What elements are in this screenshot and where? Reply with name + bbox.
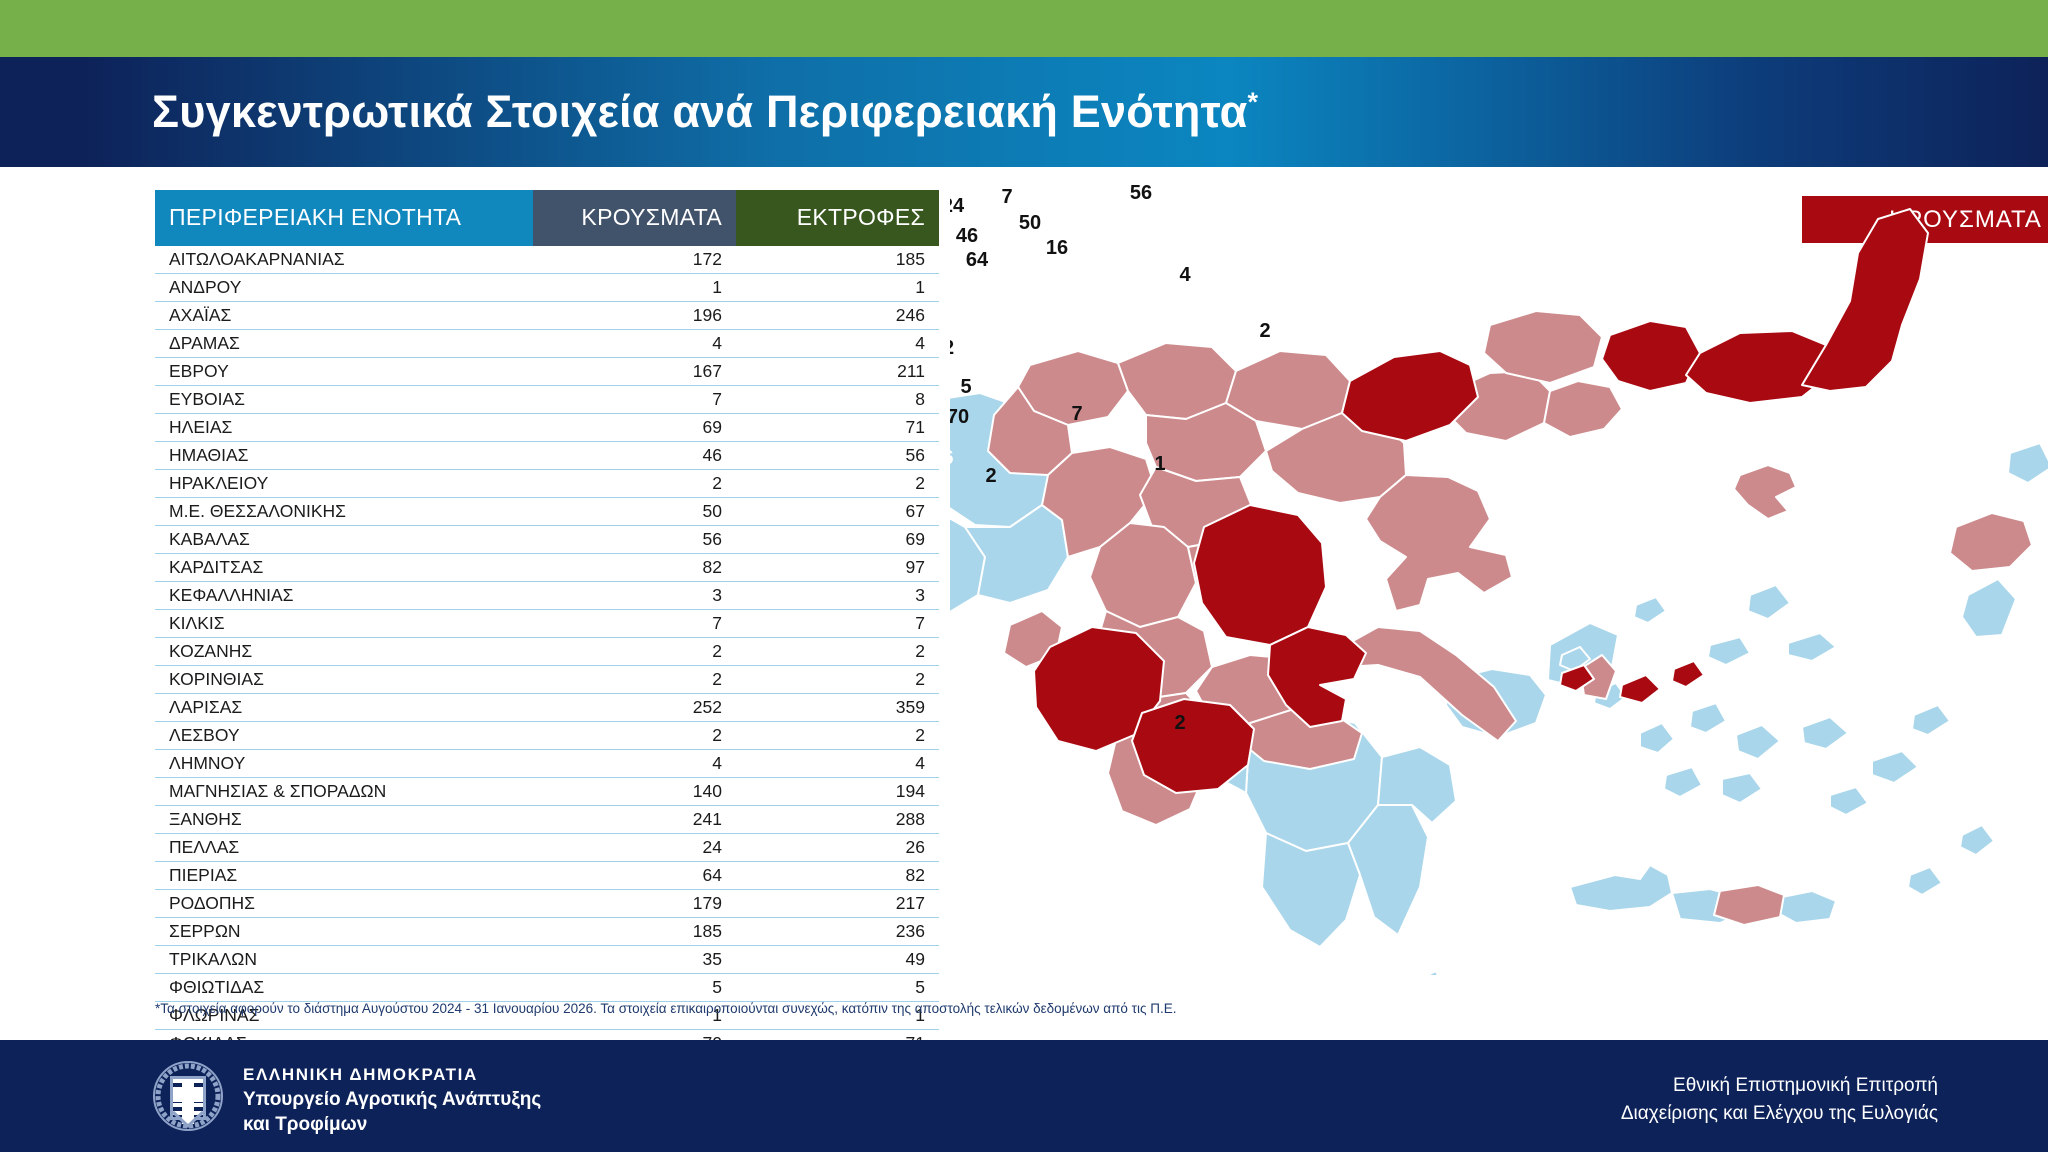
- map-region-value-label: 5: [960, 376, 971, 398]
- cell-farms: 67: [736, 498, 939, 526]
- table-row[interactable]: ΗΡΑΚΛΕΙΟΥ22: [155, 470, 939, 498]
- cell-cases: 185: [533, 918, 736, 946]
- cell-farms: 4: [736, 750, 939, 778]
- cell-cases: 69: [533, 414, 736, 442]
- table-row[interactable]: ΗΛΕΙΑΣ6971: [155, 414, 939, 442]
- map-region-value-label: 70: [950, 406, 969, 428]
- map-region-value-label: 167: [1349, 175, 1382, 197]
- cell-cases: 7: [533, 386, 736, 414]
- page-title-asterisk: *: [1248, 87, 1259, 117]
- map-region-value-label: 241: [1180, 175, 1213, 187]
- cell-farms: 2: [736, 666, 939, 694]
- cell-cases: 50: [533, 498, 736, 526]
- cell-region-name: ΠΕΛΛΑΣ: [155, 834, 533, 862]
- cell-cases: 56: [533, 526, 736, 554]
- cell-cases: 3: [533, 582, 736, 610]
- cell-region-name: ΚΙΛΚΙΣ: [155, 610, 533, 638]
- cell-region-name: ΜΑΓΝΗΣΙΑΣ & ΣΠΟΡΑΔΩΝ: [155, 778, 533, 806]
- cell-farms: 49: [736, 946, 939, 974]
- table-row[interactable]: ΛΑΡΙΣΑΣ252359: [155, 694, 939, 722]
- cell-farms: 3: [736, 582, 939, 610]
- map-region-value-label: 7: [1071, 403, 1082, 425]
- table-row[interactable]: ΛΗΜΝΟΥ44: [155, 750, 939, 778]
- cell-region-name: ΛΕΣΒΟΥ: [155, 722, 533, 750]
- cell-region-name: ΗΜΑΘΙΑΣ: [155, 442, 533, 470]
- footnote: *Τα στοιχεία αφορούν το διάστημα Αυγούστ…: [155, 1001, 1455, 1016]
- cell-farms: 185: [736, 246, 939, 274]
- cell-cases: 5: [533, 974, 736, 1002]
- map-region-value-label: 46: [956, 225, 978, 247]
- cell-farms: 2: [736, 722, 939, 750]
- cell-region-name: ΚΟΡΙΝΘΙΑΣ: [155, 666, 533, 694]
- map-region-value-label: 56: [1130, 182, 1152, 204]
- map-labels-overlay: 4241179167185567241504616264423525282140…: [950, 175, 2048, 975]
- cell-region-name: ΚΑΡΔΙΤΣΑΣ: [155, 554, 533, 582]
- map-region-value-label: 7: [1001, 186, 1012, 208]
- cell-cases: 167: [533, 358, 736, 386]
- table-row[interactable]: ΔΡΑΜΑΣ44: [155, 330, 939, 358]
- greece-choropleth-map: 4241179167185567241504616264423525282140…: [950, 175, 2048, 975]
- cell-cases: 4: [533, 330, 736, 358]
- table-row[interactable]: ΦΘΙΩΤΙΔΑΣ55: [155, 974, 939, 1002]
- cell-region-name: ΚΕΦΑΛΛΗΝΙΑΣ: [155, 582, 533, 610]
- cell-region-name: ΦΘΙΩΤΙΔΑΣ: [155, 974, 533, 1002]
- cell-region-name: Μ.Ε. ΘΕΣΣΑΛΟΝΙΚΗΣ: [155, 498, 533, 526]
- table-row[interactable]: ΕΥΒΟΙΑΣ78: [155, 386, 939, 414]
- map-region-value-label: 140: [983, 354, 1016, 376]
- cell-cases: 1: [533, 274, 736, 302]
- cell-region-name: ΤΡΙΚΑΛΩΝ: [155, 946, 533, 974]
- map-region-value-label: 2: [1174, 712, 1185, 734]
- cell-farms: 288: [736, 806, 939, 834]
- cell-farms: 246: [736, 302, 939, 330]
- cell-cases: 2: [533, 638, 736, 666]
- table-header: ΠΕΡΙΦΕΡΕΙΑΚΗ ΕΝΟΤΗΤΑ ΚΡΟΥΣΜΑΤΑ ΕΚΤΡΟΦΕΣ: [155, 190, 939, 246]
- page-footer: ΕΛΛΗΝΙΚΗ ΔΗΜΟΚΡΑΤΙΑ Υπουργείο Αγροτικής …: [0, 1040, 2048, 1152]
- map-region-value-label: 1: [1154, 453, 1165, 475]
- column-header-farms[interactable]: ΕΚΤΡΟΦΕΣ: [736, 190, 939, 246]
- table-row[interactable]: ΚΟΡΙΝΘΙΑΣ22: [155, 666, 939, 694]
- map-region-value-label: 24: [950, 195, 965, 217]
- cell-region-name: ΑΝΔΡΟΥ: [155, 274, 533, 302]
- map-region-value-label: 4: [1122, 175, 1134, 180]
- map-region-value-label: 185: [1043, 179, 1076, 201]
- cell-cases: 241: [533, 806, 736, 834]
- map-region-value-label: 196: [950, 447, 954, 469]
- committee-line-2: Διαχείρισης και Ελέγχου της Ευλογιάς: [1621, 1100, 1938, 1128]
- cell-cases: 82: [533, 554, 736, 582]
- cell-region-name: ΑΙΤΩΛΟΑΚΑΡΝΑΝΙΑΣ: [155, 246, 533, 274]
- table-row[interactable]: ΡΟΔΟΠΗΣ179217: [155, 890, 939, 918]
- column-header-region[interactable]: ΠΕΡΙΦΕΡΕΙΑΚΗ ΕΝΟΤΗΤΑ: [155, 190, 533, 246]
- cell-farms: 2: [736, 638, 939, 666]
- cell-cases: 46: [533, 442, 736, 470]
- cell-region-name: ΕΒΡΟΥ: [155, 358, 533, 386]
- cell-cases: 2: [533, 470, 736, 498]
- cell-cases: 140: [533, 778, 736, 806]
- cell-farms: 97: [736, 554, 939, 582]
- gov-line-1: ΕΛΛΗΝΙΚΗ ΔΗΜΟΚΡΑΤΙΑ: [243, 1064, 541, 1087]
- cell-region-name: ΛΗΜΝΟΥ: [155, 750, 533, 778]
- government-identity: ΕΛΛΗΝΙΚΗ ΔΗΜΟΚΡΑΤΙΑ Υπουργείο Αγροτικής …: [243, 1064, 541, 1137]
- cell-farms: 217: [736, 890, 939, 918]
- table-body: ΑΙΤΩΛΟΑΚΑΡΝΑΝΙΑΣ172185ΑΝΔΡΟΥ11ΑΧΑΪΑΣ1962…: [155, 246, 939, 1086]
- cell-cases: 179: [533, 890, 736, 918]
- cell-farms: 194: [736, 778, 939, 806]
- cell-region-name: ΛΑΡΙΣΑΣ: [155, 694, 533, 722]
- cell-farms: 1: [736, 274, 939, 302]
- map-region-value-label: 4: [1179, 264, 1191, 286]
- cell-farms: 359: [736, 694, 939, 722]
- cell-farms: 82: [736, 862, 939, 890]
- map-region-value-label: 2: [1259, 320, 1270, 342]
- cell-region-name: ΔΡΑΜΑΣ: [155, 330, 533, 358]
- cell-cases: 35: [533, 946, 736, 974]
- cell-farms: 211: [736, 358, 939, 386]
- table-row[interactable]: Μ.Ε. ΘΕΣΣΑΛΟΝΙΚΗΣ5067: [155, 498, 939, 526]
- column-header-cases[interactable]: ΚΡΟΥΣΜΑΤΑ: [533, 190, 736, 246]
- table-row[interactable]: ΚΙΛΚΙΣ77: [155, 610, 939, 638]
- table-row[interactable]: ΚΕΦΑΛΛΗΝΙΑΣ33: [155, 582, 939, 610]
- map-region-value-label: 16: [1046, 237, 1068, 259]
- table-row[interactable]: ΑΙΤΩΛΟΑΚΑΡΝΑΝΙΑΣ172185: [155, 246, 939, 274]
- map-region-value-label: 50: [1019, 212, 1041, 234]
- map-region-value-label: 252: [962, 305, 995, 327]
- cell-cases: 2: [533, 666, 736, 694]
- cell-cases: 172: [533, 246, 736, 274]
- cell-farms: 5: [736, 974, 939, 1002]
- title-banner: Συγκεντρωτικά Στοιχεία ανά Περιφερειακή …: [0, 57, 2048, 167]
- cell-farms: 71: [736, 414, 939, 442]
- map-region-value-label: 179: [1268, 175, 1301, 196]
- table-row[interactable]: ΠΕΛΛΑΣ2426: [155, 834, 939, 862]
- page-title: Συγκεντρωτικά Στοιχεία ανά Περιφερειακή …: [152, 86, 1258, 138]
- table-row[interactable]: ΑΝΔΡΟΥ11: [155, 274, 939, 302]
- cell-region-name: ΣΕΡΡΩΝ: [155, 918, 533, 946]
- map-region-value-label: 2: [985, 465, 996, 487]
- gov-line-3: και Τροφίμων: [243, 1112, 541, 1137]
- table-row[interactable]: ΜΑΓΝΗΣΙΑΣ & ΣΠΟΡΑΔΩΝ140194: [155, 778, 939, 806]
- cell-cases: 24: [533, 834, 736, 862]
- table-row[interactable]: ΛΕΣΒΟΥ22: [155, 722, 939, 750]
- table-row[interactable]: ΠΙΕΡΙΑΣ6482: [155, 862, 939, 890]
- table-row[interactable]: ΞΑΝΘΗΣ241288: [155, 806, 939, 834]
- cell-region-name: ΗΡΑΚΛΕΙΟΥ: [155, 470, 533, 498]
- cell-farms: 4: [736, 330, 939, 358]
- committee-line-1: Εθνική Επιστημονική Επιτροπή: [1621, 1072, 1938, 1100]
- cell-region-name: ΚΟΖΑΝΗΣ: [155, 638, 533, 666]
- gov-line-2: Υπουργείο Αγροτικής Ανάπτυξης: [243, 1087, 541, 1112]
- cell-region-name: ΞΑΝΘΗΣ: [155, 806, 533, 834]
- cell-region-name: ΡΟΔΟΠΗΣ: [155, 890, 533, 918]
- table-row[interactable]: ΤΡΙΚΑΛΩΝ3549: [155, 946, 939, 974]
- cell-region-name: ΚΑΒΑΛΑΣ: [155, 526, 533, 554]
- cell-cases: 7: [533, 610, 736, 638]
- cell-farms: 69: [736, 526, 939, 554]
- cell-region-name: ΠΙΕΡΙΑΣ: [155, 862, 533, 890]
- table-row[interactable]: ΑΧΑΪΑΣ196246: [155, 302, 939, 330]
- table-header-row: ΠΕΡΙΦΕΡΕΙΑΚΗ ΕΝΟΤΗΤΑ ΚΡΟΥΣΜΑΤΑ ΕΚΤΡΟΦΕΣ: [155, 190, 939, 246]
- cell-cases: 4: [533, 750, 736, 778]
- cell-farms: 236: [736, 918, 939, 946]
- table-row[interactable]: ΚΟΖΑΝΗΣ22: [155, 638, 939, 666]
- page-title-text: Συγκεντρωτικά Στοιχεία ανά Περιφερειακή …: [152, 86, 1248, 137]
- cell-farms: 56: [736, 442, 939, 470]
- greek-republic-emblem-icon: [152, 1060, 224, 1132]
- cell-region-name: ΑΧΑΪΑΣ: [155, 302, 533, 330]
- cell-cases: 196: [533, 302, 736, 330]
- map-region-value-label: 64: [966, 249, 989, 271]
- table-row[interactable]: ΚΑΒΑΛΑΣ5669: [155, 526, 939, 554]
- table-row[interactable]: ΗΜΑΘΙΑΣ4656: [155, 442, 939, 470]
- cell-cases: 64: [533, 862, 736, 890]
- table-row[interactable]: ΣΕΡΡΩΝ185236: [155, 918, 939, 946]
- table-row[interactable]: ΕΒΡΟΥ167211: [155, 358, 939, 386]
- cell-cases: 252: [533, 694, 736, 722]
- cell-region-name: ΗΛΕΙΑΣ: [155, 414, 533, 442]
- cell-region-name: ΕΥΒΟΙΑΣ: [155, 386, 533, 414]
- cell-farms: 7: [736, 610, 939, 638]
- top-green-accent-bar: [0, 0, 2048, 57]
- committee-identity: Εθνική Επιστημονική Επιτροπή Διαχείρισης…: [1621, 1072, 1938, 1127]
- cell-farms: 26: [736, 834, 939, 862]
- cell-cases: 2: [533, 722, 736, 750]
- map-region-value-label: 82: [950, 337, 954, 359]
- cell-farms: 2: [736, 470, 939, 498]
- table-row[interactable]: ΚΑΡΔΙΤΣΑΣ8297: [155, 554, 939, 582]
- cell-farms: 8: [736, 386, 939, 414]
